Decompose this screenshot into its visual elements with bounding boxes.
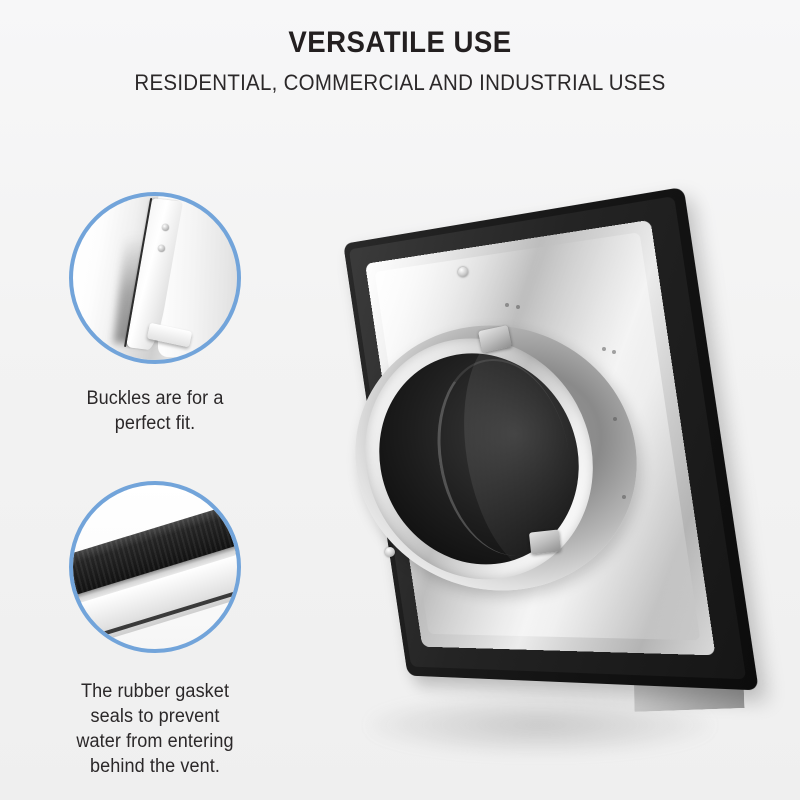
buckle-closeup-photo [73, 196, 237, 360]
duct-inner-edge [424, 353, 584, 562]
infographic-canvas: VERSATILE USE RESIDENTIAL, COMMERCIAL AN… [0, 0, 800, 800]
rivet-mark [613, 417, 617, 421]
callout-buckles-caption: Buckles are for a perfect fit. [27, 386, 284, 436]
caption-line: perfect fit. [27, 411, 284, 436]
callout-gasket-image [69, 481, 241, 653]
callout-gasket: The rubber gasket seals to prevent water… [20, 481, 290, 779]
caption-line: seals to prevent [27, 704, 284, 729]
caption-line: behind the vent. [27, 754, 284, 779]
page-title: VERSATILE USE [32, 26, 768, 60]
header-block: VERSATILE USE RESIDENTIAL, COMMERCIAL AN… [0, 26, 800, 96]
callout-buckles-image [69, 192, 241, 364]
buckle-rivet-icon [162, 224, 169, 231]
rivet-mark [602, 347, 606, 351]
stainless-steel-wall-vent-photo [330, 195, 790, 775]
damper-tab [529, 529, 561, 554]
caption-line: Buckles are for a [27, 386, 284, 411]
callout-gasket-caption: The rubber gasket seals to prevent water… [27, 679, 284, 779]
callout-buckles: Buckles are for a perfect fit. [20, 192, 290, 436]
caption-line: The rubber gasket [27, 679, 284, 704]
caption-line: water from entering [27, 729, 284, 754]
rivet-mark [612, 350, 616, 354]
page-subtitle: RESIDENTIAL, COMMERCIAL AND INDUSTRIAL U… [28, 70, 772, 96]
rivet-mark [516, 305, 520, 309]
rivet-mark [505, 303, 509, 307]
mounting-screw [458, 267, 468, 277]
mounting-screw [385, 547, 395, 557]
rivet-mark [622, 495, 626, 499]
rubber-gasket-closeup-photo [73, 485, 237, 649]
